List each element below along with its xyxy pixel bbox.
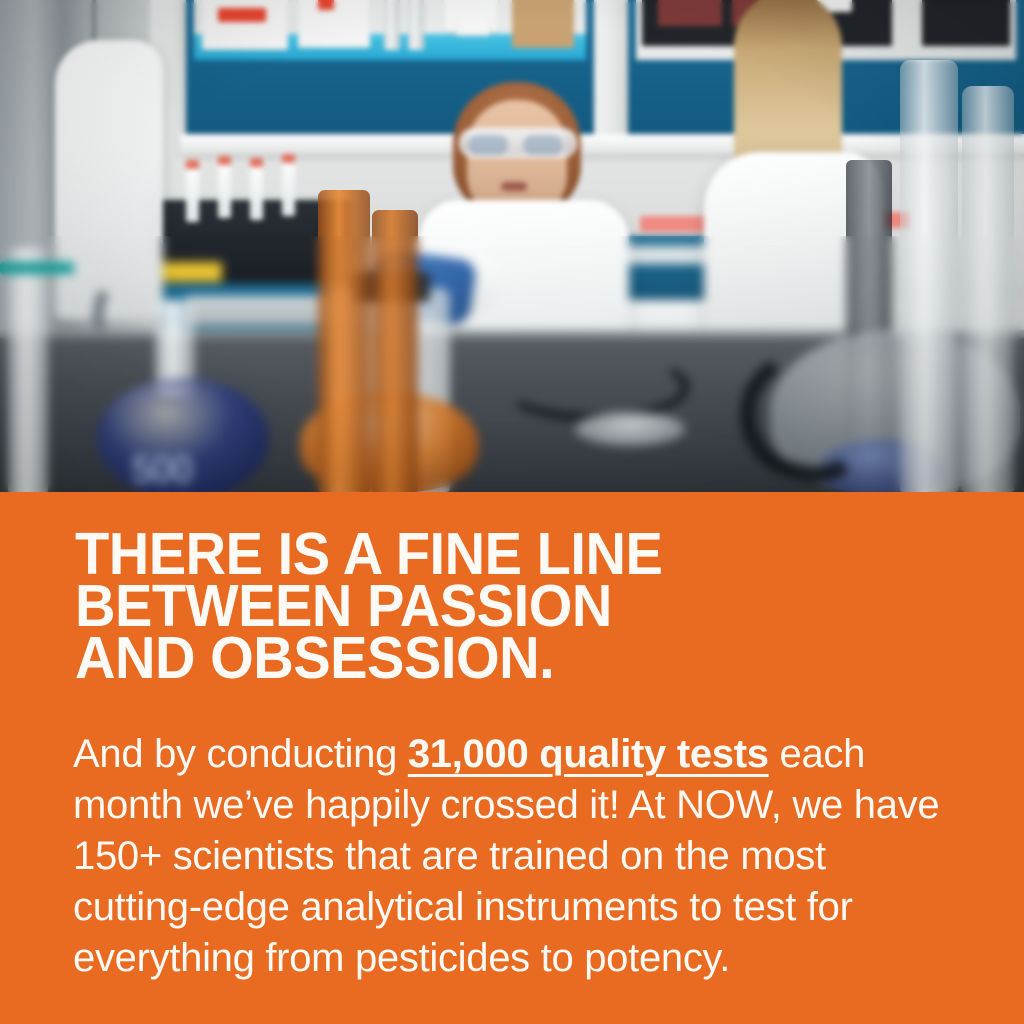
- supply-box: [456, 20, 490, 36]
- scientist-mouth: [501, 182, 527, 191]
- goggle-lens-right: [523, 135, 563, 155]
- amber-flask-neck-a: [318, 190, 370, 492]
- headline: THERE IS A FINE LINE BETWEEN PASSION AND…: [75, 528, 930, 684]
- glassware-tall-right-a: [900, 60, 958, 492]
- body-copy-lead: And by conducting: [73, 732, 408, 776]
- sample-vial: [250, 164, 263, 220]
- supply-box-red-label: [318, 0, 334, 10]
- sample-vial: [282, 160, 295, 216]
- amber-flask-neck-b: [372, 210, 418, 492]
- quality-tests-stat: 31,000 quality tests: [408, 732, 769, 776]
- supply-box: [298, 0, 370, 48]
- sample-vial: [186, 166, 199, 222]
- cardboard-box: [512, 0, 574, 48]
- petri-dish: [575, 412, 685, 446]
- body-copy: And by conducting 31,000 quality tests e…: [73, 729, 948, 984]
- glass-tube: [384, 0, 400, 50]
- pipette-cap-teal: [0, 262, 74, 274]
- sample-vial-cap: [282, 154, 295, 163]
- supply-box-red-label: [218, 8, 266, 22]
- sample-vial-cap: [218, 156, 231, 165]
- bench-hose: [500, 352, 690, 422]
- sample-vial-cap: [186, 160, 199, 169]
- sample-vial: [218, 162, 231, 218]
- pipette-left: [8, 248, 48, 492]
- sample-vial-cap: [250, 158, 263, 167]
- glassware-tall-right-b: [962, 86, 1014, 492]
- shelf-dark-area: [922, 0, 1010, 46]
- orange-text-panel: THERE IS A FINE LINE BETWEEN PASSION AND…: [0, 492, 1024, 1024]
- glass-tube: [408, 0, 424, 50]
- cabinet-left-contents: [194, 0, 586, 60]
- promo-card: 500 THERE IS A FINE LINE BETWEEN PASSION…: [0, 0, 1024, 1024]
- lab-photo: 500: [0, 0, 1024, 492]
- flask-volume-label: 500: [131, 448, 225, 486]
- safety-goggles: [459, 128, 577, 158]
- goggle-lens-left: [468, 135, 508, 155]
- volumetric-flask-blue: 500: [95, 300, 273, 492]
